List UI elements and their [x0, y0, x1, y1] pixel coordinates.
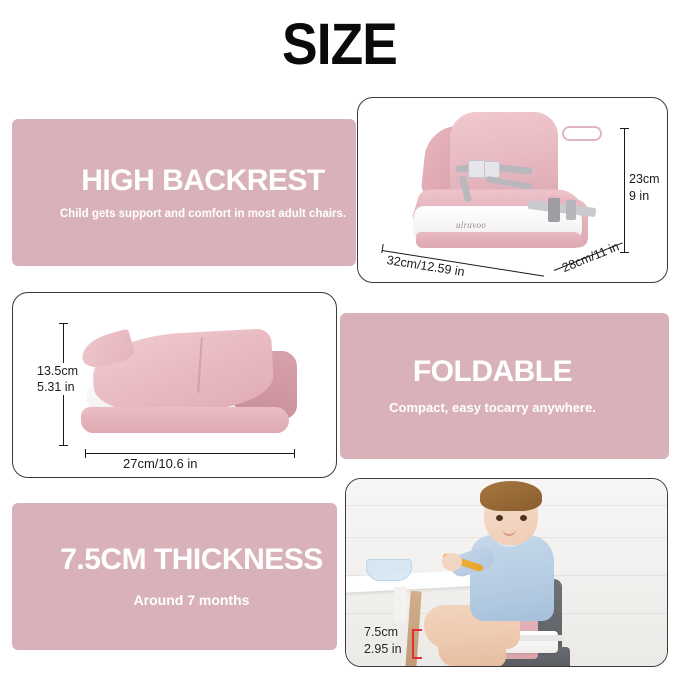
fold-dim-length-cap-right	[294, 449, 295, 458]
panel-high-backrest-headline: HIGH BACKREST	[81, 165, 325, 197]
baby-leg-lower	[438, 631, 506, 667]
table-leg-white	[394, 587, 407, 623]
fold-dim-length-label: 27cm/10.6 in	[123, 457, 197, 471]
seat-belt-clip-secondary	[566, 200, 576, 220]
seat-harness	[456, 160, 552, 204]
seat-carry-handle-hole	[562, 126, 602, 141]
seat-belt-clip	[548, 198, 560, 222]
fold-dim-height-in-label: 5.31 in	[35, 379, 77, 395]
dim-height-in-label: 9 in	[628, 187, 650, 205]
fold-dim-height-cap-bottom	[59, 445, 68, 446]
brand-logo: ulravoo	[456, 220, 486, 230]
folded-seat-graphic	[75, 327, 305, 447]
panel-high-backrest: HIGH BACKREST Child gets support and com…	[12, 119, 356, 266]
photo-card-baby-in-seat: 7.5cm 2.95 in	[345, 478, 668, 667]
photo-card-booster-seat: ulravoo 23cm 9 in	[357, 97, 668, 283]
panel-foldable: FOLDABLE Compact, easy tocarry anywhere.	[340, 313, 669, 459]
panel-thickness-subtitle: Around 7 months	[134, 592, 250, 609]
baby-dim-thickness-in-label: 2.95 in	[364, 642, 402, 657]
photo-card-folded-seat: 13.5cm 5.31 in 27cm/10.6 in	[12, 292, 337, 478]
fold-dim-height-cap-top	[59, 323, 68, 324]
harness-lap-strap	[486, 176, 532, 190]
panel-foldable-subtitle: Compact, easy tocarry anywhere.	[389, 400, 596, 416]
panel-thickness: 7.5CM THICKNESS Around 7 months	[12, 503, 337, 650]
dim-width-cap-left	[381, 244, 383, 253]
fold-dim-length-line	[85, 453, 295, 454]
dim-height-cap-top	[620, 128, 629, 129]
fold-dim-length-cap-left	[85, 449, 86, 458]
baby-dim-thickness-cm-label: 7.5cm	[364, 625, 398, 640]
baby-eye-left	[496, 515, 503, 521]
harness-buckle-center	[484, 161, 500, 178]
panel-thickness-headline: 7.5CM THICKNESS	[60, 544, 323, 576]
dim-height-cm-label: 23cm	[628, 170, 661, 188]
panel-foldable-headline: FOLDABLE	[413, 356, 572, 388]
blue-bowl	[366, 559, 412, 581]
harness-strap-right	[498, 164, 533, 175]
infographic-page: SIZE HIGH BACKREST Child gets support an…	[0, 0, 679, 679]
baby-hair	[480, 481, 542, 511]
seat-pink-foot-rail	[416, 232, 582, 248]
booster-seat-illustration: ulravoo 23cm 9 in	[358, 98, 667, 282]
fold-dim-height-cm-label: 13.5cm	[35, 363, 80, 379]
dim-height-line	[624, 128, 625, 252]
baby-eye-right	[520, 515, 527, 521]
folded-pink-foot-rail	[81, 407, 289, 433]
baby-hand	[442, 553, 462, 571]
folded-seat-illustration: 13.5cm 5.31 in 27cm/10.6 in	[13, 293, 336, 477]
thickness-measure-bracket	[412, 629, 422, 659]
panel-high-backrest-subtitle: Child gets support and comfort in most a…	[60, 207, 346, 221]
baby-lifestyle-illustration: 7.5cm 2.95 in	[346, 479, 667, 666]
page-title: SIZE	[27, 16, 652, 74]
booster-seat-graphic: ulravoo	[398, 112, 598, 262]
harness-crotch-strap	[459, 176, 472, 203]
